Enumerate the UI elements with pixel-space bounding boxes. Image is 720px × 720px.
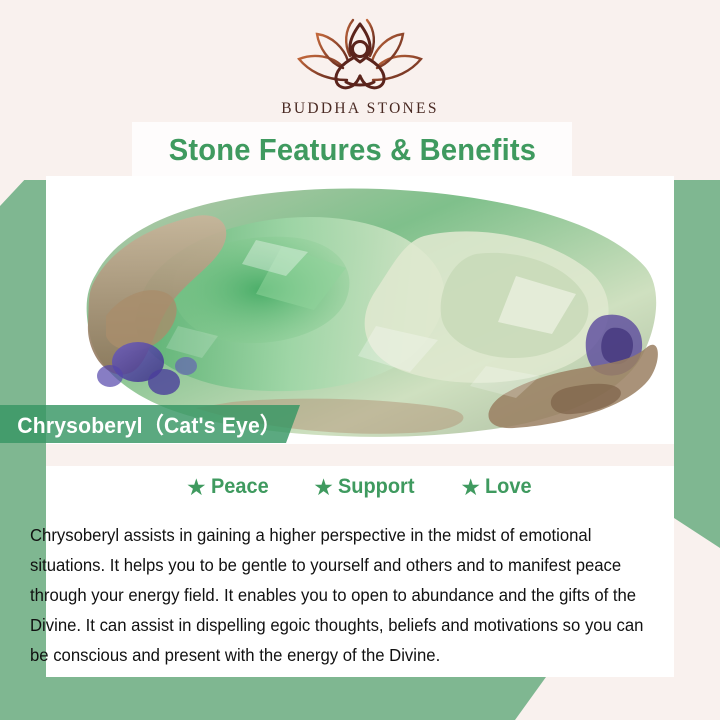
benefit-label: Love [485,475,532,499]
stone-photo [46,176,674,444]
frame-bottom-bar [0,677,720,720]
page-title: Stone Features & Benefits [168,132,535,168]
benefit-label: Support [338,475,414,499]
star-icon: ★ [313,476,334,499]
lotus-meditation-icon [0,18,720,96]
brand-logo: BUDDHA STONES [0,18,720,118]
benefit-item-peace: ★ Peace [186,475,271,499]
stone-name-banner: Chrysoberyl（Cat's Eye） [0,405,300,443]
brand-name: BUDDHA STONES [0,100,720,118]
benefits-row: ★ Peace ★ Support ★ Love [46,466,674,508]
description-text: Chrysoberyl assists in gaining a higher … [30,521,664,671]
benefit-item-love: ★ Love [460,475,534,499]
separator-strip [46,444,674,466]
poster-root: BUDDHA STONES [0,0,720,720]
benefit-label: Peace [211,475,269,499]
star-icon: ★ [186,476,207,499]
title-banner: Stone Features & Benefits [132,122,572,177]
stone-name-label: Chrysoberyl（Cat's Eye） [0,408,281,440]
benefit-item-support: ★ Support [313,475,418,499]
star-icon: ★ [460,476,481,499]
